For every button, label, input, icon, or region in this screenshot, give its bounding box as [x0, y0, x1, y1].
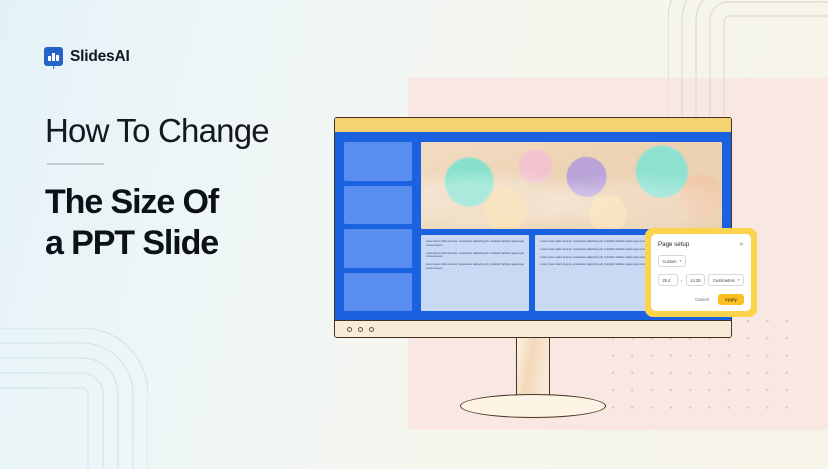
dialog-title: Page setup	[658, 241, 689, 248]
slide-thumbnail[interactable]	[344, 229, 412, 268]
title-line-bold-2: a PPT Slide	[45, 223, 375, 264]
poster-canvas: SlidesAI How To Change The Size Of a PPT…	[0, 0, 828, 469]
close-icon[interactable]: ✕	[739, 242, 744, 248]
title-line-light: How To Change	[45, 113, 375, 150]
cancel-button[interactable]: Cancel	[691, 295, 713, 305]
apply-button[interactable]: Apply	[718, 294, 744, 305]
page-setup-dialog-highlight: Page setup ✕ Custom ▾ 25.4 × 14.29 Centi…	[645, 228, 757, 317]
width-value: 25.4	[662, 278, 670, 283]
title-lines-bold: The Size Of a PPT Slide	[45, 182, 375, 265]
dimensions-row: 25.4 × 14.29 Centimetres ▾	[658, 274, 744, 286]
chevron-down-icon: ▾	[738, 278, 740, 282]
slide-thumbnail[interactable]	[344, 186, 412, 225]
slides-presentation-icon	[44, 47, 63, 66]
bezel-dot	[369, 327, 374, 332]
page-title: How To Change The Size Of a PPT Slide	[45, 113, 375, 265]
unit-value: Centimetres	[713, 278, 735, 283]
monitor-stand-base	[460, 394, 606, 418]
slide-size-preset-dropdown[interactable]: Custom ▾	[658, 255, 686, 267]
lorem-paragraph: Lorem ipsum dolor sit amet, consectetur …	[426, 263, 524, 271]
multiply-symbol: ×	[681, 278, 683, 283]
page-setup-dialog[interactable]: Page setup ✕ Custom ▾ 25.4 × 14.29 Centi…	[651, 234, 751, 311]
preset-row: Custom ▾	[658, 255, 744, 267]
bezel-dot	[358, 327, 363, 332]
title-line-bold-1: The Size Of	[45, 182, 375, 223]
height-input[interactable]: 14.29	[686, 274, 706, 286]
dialog-actions: Cancel Apply	[658, 294, 744, 305]
preset-value: Custom	[662, 259, 676, 264]
chevron-down-icon: ▾	[680, 259, 682, 263]
slide-thumbnail[interactable]	[344, 273, 412, 312]
brand-logo[interactable]: SlidesAI	[44, 47, 130, 66]
height-value: 14.29	[690, 278, 700, 283]
monitor-bezel	[335, 320, 731, 337]
title-divider	[47, 163, 104, 165]
brand-name: SlidesAI	[70, 48, 130, 66]
bezel-dot	[347, 327, 352, 332]
slide-thumbnail[interactable]	[344, 142, 412, 181]
lorem-paragraph: Lorem ipsum dolor sit amet, consectetur …	[426, 252, 524, 260]
unit-dropdown[interactable]: Centimetres ▾	[708, 274, 744, 286]
arc-decoration-bottom-left	[0, 328, 148, 469]
lorem-paragraph: Lorem ipsum dolor sit amet, consectetur …	[426, 240, 524, 248]
monitor-stand-neck	[516, 338, 550, 398]
dialog-header: Page setup ✕	[658, 241, 744, 248]
width-input[interactable]: 25.4	[658, 274, 678, 286]
slide-text-block-left[interactable]: Lorem ipsum dolor sit amet, consectetur …	[421, 235, 529, 311]
editor-toolbar-strip	[335, 118, 731, 132]
slide-thumbnail-panel[interactable]	[344, 142, 412, 311]
cupcakes-photo	[421, 142, 722, 229]
